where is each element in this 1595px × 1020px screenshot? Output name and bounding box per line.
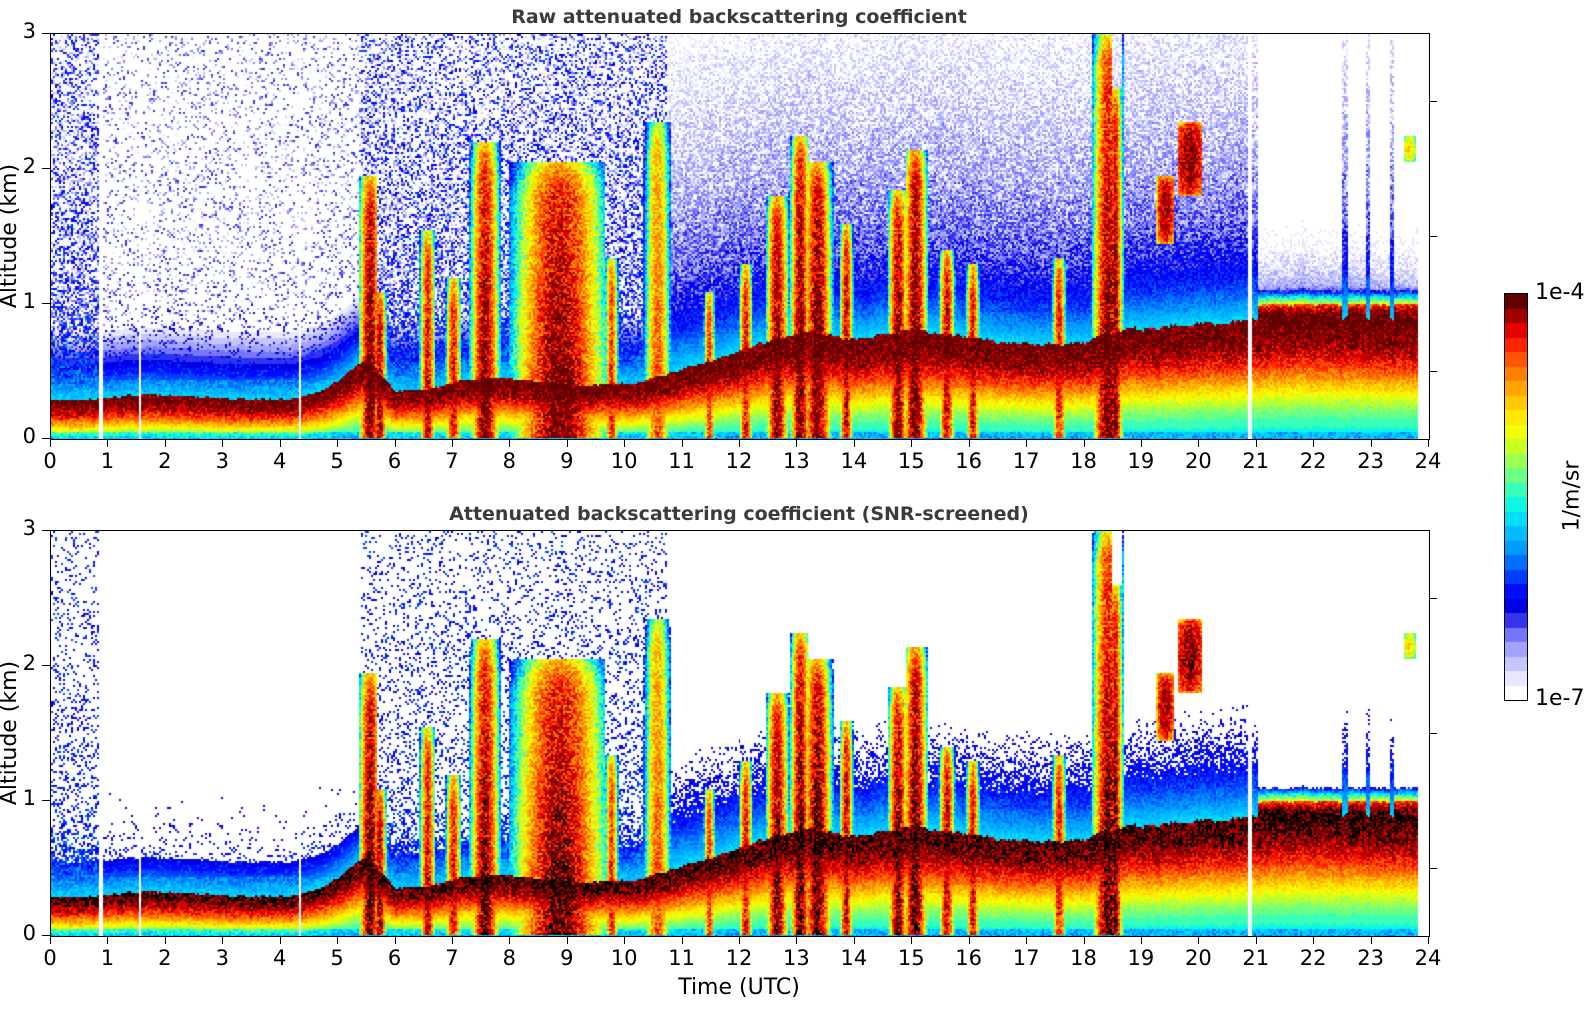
y-tick-label: 0 <box>2 921 36 945</box>
y-tick-mark <box>42 438 50 439</box>
x-tick-label: 3 <box>200 946 244 970</box>
x-tick-label: 18 <box>1062 946 1106 970</box>
x-tick-label: 7 <box>430 946 474 970</box>
x-tick-label: 10 <box>602 946 646 970</box>
x-tick-mark <box>1256 936 1257 944</box>
x-tick-label: 20 <box>1176 946 1220 970</box>
x-tick-label: 13 <box>774 449 818 473</box>
y-minor-tick-mark <box>1429 868 1437 869</box>
y-tick-mark <box>42 33 50 34</box>
x-tick-label: 24 <box>1406 946 1450 970</box>
x-tick-label: 11 <box>660 946 704 970</box>
x-tick-label: 6 <box>373 449 417 473</box>
x-tick-mark <box>107 936 108 944</box>
x-tick-mark <box>1313 936 1314 944</box>
x-tick-mark <box>624 936 625 944</box>
x-tick-mark <box>1084 936 1085 944</box>
colorbar <box>1504 293 1528 701</box>
x-tick-label: 21 <box>1234 946 1278 970</box>
x-tick-mark <box>50 439 51 447</box>
y-minor-tick-mark <box>1429 733 1437 734</box>
y-minor-tick-mark <box>1429 371 1437 372</box>
x-tick-mark <box>1141 439 1142 447</box>
x-tick-mark <box>1428 439 1429 447</box>
x-tick-label: 19 <box>1119 946 1163 970</box>
x-tick-mark <box>509 439 510 447</box>
x-tick-label: 0 <box>28 449 72 473</box>
x-tick-label: 2 <box>143 449 187 473</box>
x-tick-mark <box>222 439 223 447</box>
x-tick-label: 12 <box>717 449 761 473</box>
x-tick-label: 20 <box>1176 449 1220 473</box>
x-tick-mark <box>1026 439 1027 447</box>
x-tick-mark <box>1198 439 1199 447</box>
x-tick-label: 8 <box>487 449 531 473</box>
x-tick-label: 17 <box>1004 449 1048 473</box>
y-tick-label: 3 <box>2 19 36 43</box>
x-tick-mark <box>1313 439 1314 447</box>
x-tick-label: 22 <box>1291 449 1335 473</box>
y-tick-mark <box>42 168 50 169</box>
x-tick-label: 5 <box>315 449 359 473</box>
x-tick-mark <box>969 936 970 944</box>
x-tick-label: 16 <box>947 946 991 970</box>
x-tick-mark <box>969 439 970 447</box>
colorbar-min-label: 1e-7 <box>1535 686 1584 711</box>
figure-root: Raw attenuated backscattering coefficien… <box>0 0 1595 1020</box>
x-tick-mark <box>165 439 166 447</box>
x-tick-mark <box>50 936 51 944</box>
plot-area-raw <box>50 33 1430 440</box>
x-tick-label: 19 <box>1119 449 1163 473</box>
x-tick-mark <box>624 439 625 447</box>
x-tick-label: 14 <box>832 946 876 970</box>
colorbar-canvas <box>1505 294 1527 700</box>
x-tick-label: 0 <box>28 946 72 970</box>
x-tick-mark <box>739 439 740 447</box>
x-tick-label: 15 <box>889 946 933 970</box>
x-tick-mark <box>854 439 855 447</box>
x-tick-mark <box>395 936 396 944</box>
x-tick-label: 18 <box>1062 449 1106 473</box>
x-tick-label: 7 <box>430 449 474 473</box>
y-tick-label: 1 <box>2 289 36 313</box>
x-tick-mark <box>280 439 281 447</box>
panel-title-screened: Attenuated backscattering coefficient (S… <box>50 503 1428 525</box>
x-tick-mark <box>1198 936 1199 944</box>
x-tick-mark <box>509 936 510 944</box>
x-tick-label: 22 <box>1291 946 1335 970</box>
x-axis-label: Time (UTC) <box>50 975 1428 1000</box>
x-tick-label: 1 <box>85 449 129 473</box>
x-tick-mark <box>796 439 797 447</box>
y-tick-label: 3 <box>2 516 36 540</box>
x-tick-label: 4 <box>258 449 302 473</box>
x-tick-label: 8 <box>487 946 531 970</box>
x-tick-mark <box>222 936 223 944</box>
x-tick-label: 1 <box>85 946 129 970</box>
x-tick-mark <box>1428 936 1429 944</box>
x-tick-mark <box>1371 439 1372 447</box>
x-tick-label: 4 <box>258 946 302 970</box>
x-tick-mark <box>796 936 797 944</box>
x-tick-mark <box>1084 439 1085 447</box>
y-tick-label: 2 <box>2 651 36 675</box>
x-tick-mark <box>911 439 912 447</box>
x-tick-mark <box>739 936 740 944</box>
x-tick-label: 9 <box>545 946 589 970</box>
x-tick-label: 2 <box>143 946 187 970</box>
x-tick-mark <box>395 439 396 447</box>
x-tick-label: 23 <box>1349 449 1393 473</box>
x-tick-label: 17 <box>1004 946 1048 970</box>
x-tick-mark <box>1026 936 1027 944</box>
y-minor-tick-mark <box>1429 101 1437 102</box>
x-tick-label: 6 <box>373 946 417 970</box>
colorbar-unit-label: 1/m/sr <box>1560 461 1585 532</box>
y-tick-mark <box>42 530 50 531</box>
x-tick-mark <box>567 936 568 944</box>
x-tick-label: 13 <box>774 946 818 970</box>
x-tick-mark <box>107 439 108 447</box>
x-tick-mark <box>337 439 338 447</box>
y-tick-mark <box>42 935 50 936</box>
x-tick-label: 5 <box>315 946 359 970</box>
x-tick-label: 23 <box>1349 946 1393 970</box>
x-tick-label: 12 <box>717 946 761 970</box>
y-minor-tick-mark <box>1429 598 1437 599</box>
plot-area-screened <box>50 530 1430 937</box>
x-tick-mark <box>452 439 453 447</box>
x-tick-mark <box>911 936 912 944</box>
y-tick-label: 0 <box>2 424 36 448</box>
x-tick-label: 16 <box>947 449 991 473</box>
y-tick-mark <box>42 665 50 666</box>
x-tick-mark <box>337 936 338 944</box>
heatmap-canvas-screened <box>51 531 1429 936</box>
x-tick-mark <box>682 439 683 447</box>
x-tick-mark <box>854 936 855 944</box>
y-minor-tick-mark <box>1429 236 1437 237</box>
x-tick-mark <box>682 936 683 944</box>
colorbar-max-label: 1e-4 <box>1535 280 1584 305</box>
x-tick-mark <box>165 936 166 944</box>
x-tick-mark <box>567 439 568 447</box>
y-tick-mark <box>42 303 50 304</box>
y-tick-label: 1 <box>2 786 36 810</box>
x-tick-label: 24 <box>1406 449 1450 473</box>
x-tick-mark <box>1256 439 1257 447</box>
x-tick-label: 14 <box>832 449 876 473</box>
x-tick-label: 3 <box>200 449 244 473</box>
x-tick-label: 15 <box>889 449 933 473</box>
x-tick-mark <box>1141 936 1142 944</box>
y-tick-label: 2 <box>2 154 36 178</box>
x-tick-label: 11 <box>660 449 704 473</box>
y-axis-label-screened: Altitude (km) <box>0 660 22 804</box>
x-tick-mark <box>280 936 281 944</box>
x-tick-mark <box>452 936 453 944</box>
heatmap-canvas-raw <box>51 34 1429 439</box>
x-tick-mark <box>1371 936 1372 944</box>
x-tick-label: 10 <box>602 449 646 473</box>
panel-title-raw: Raw attenuated backscattering coefficien… <box>50 6 1428 28</box>
y-axis-label-raw: Altitude (km) <box>0 163 22 307</box>
x-tick-label: 9 <box>545 449 589 473</box>
x-tick-label: 21 <box>1234 449 1278 473</box>
y-tick-mark <box>42 800 50 801</box>
